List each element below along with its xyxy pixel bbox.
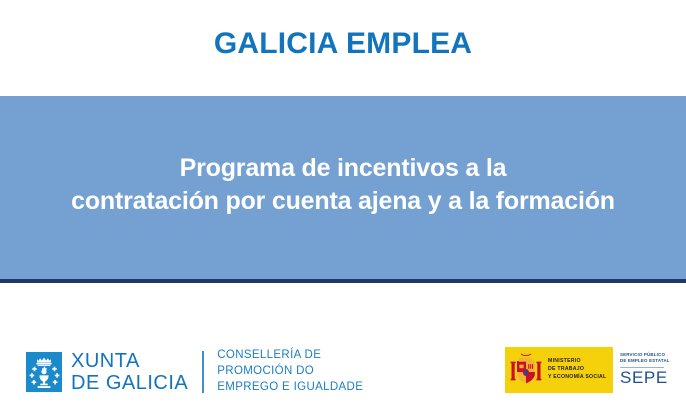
xunta-wordmark-line-1: XUNTA xyxy=(71,350,188,372)
conselleria-line-3: EMPREGO E IGUALDADE xyxy=(217,380,363,396)
page-title: GALICIA EMPLEA xyxy=(0,26,686,62)
banner-line-2: contratación por cuenta ajena y a la for… xyxy=(13,185,673,218)
xunta-de-galicia-logo: XUNTA DE GALICIA CONSELLERÍA DE PROMOCIÓ… xyxy=(26,348,363,396)
sepe-wordmark: SEPE xyxy=(620,369,683,386)
slide-root: GALICIA EMPLEA Programa de incentivos a … xyxy=(0,0,686,410)
ministerio-line-3: Y ECONOMÍA SOCIAL xyxy=(548,374,606,382)
escudo-de-espana-icon xyxy=(510,351,542,389)
footer-logos: XUNTA DE GALICIA CONSELLERÍA DE PROMOCIÓ… xyxy=(0,336,686,410)
ministerio-line-1: MINISTERIO xyxy=(548,358,606,366)
xunta-wordmark-line-2: DE GALICIA xyxy=(71,372,188,394)
sepe-tagline-line-2: DE EMPLEO ESTATAL xyxy=(620,358,683,364)
sepe-tagline: SERVICIO PÚBLICO DE EMPLEO ESTATAL xyxy=(620,352,683,365)
banner-line-1: Programa de incentivos a la xyxy=(13,152,673,185)
conselleria-line-2: PROMOCIÓN DO xyxy=(217,364,363,380)
logo-divider xyxy=(202,351,204,393)
banner-text: Programa de incentivos a la contratación… xyxy=(13,152,673,218)
xunta-wordmark: XUNTA DE GALICIA xyxy=(71,350,188,394)
xunta-coat-of-arms-icon xyxy=(26,352,62,392)
ministerio-line-2: DE TRABAJO xyxy=(548,366,606,374)
conselleria-name: CONSELLERÍA DE PROMOCIÓN DO EMPREGO E IG… xyxy=(217,348,363,396)
ministerio-de-trabajo-logo: MINISTERIO DE TRABAJO Y ECONOMÍA SOCIAL xyxy=(505,347,613,393)
program-banner: Programa de incentivos a la contratación… xyxy=(0,96,686,283)
sepe-logo: SERVICIO PÚBLICO DE EMPLEO ESTATAL SEPE xyxy=(613,347,683,393)
conselleria-line-1: CONSELLERÍA DE xyxy=(217,348,363,364)
ministerio-text: MINISTERIO DE TRABAJO Y ECONOMÍA SOCIAL xyxy=(548,358,606,381)
government-logos: MINISTERIO DE TRABAJO Y ECONOMÍA SOCIAL … xyxy=(505,347,683,393)
